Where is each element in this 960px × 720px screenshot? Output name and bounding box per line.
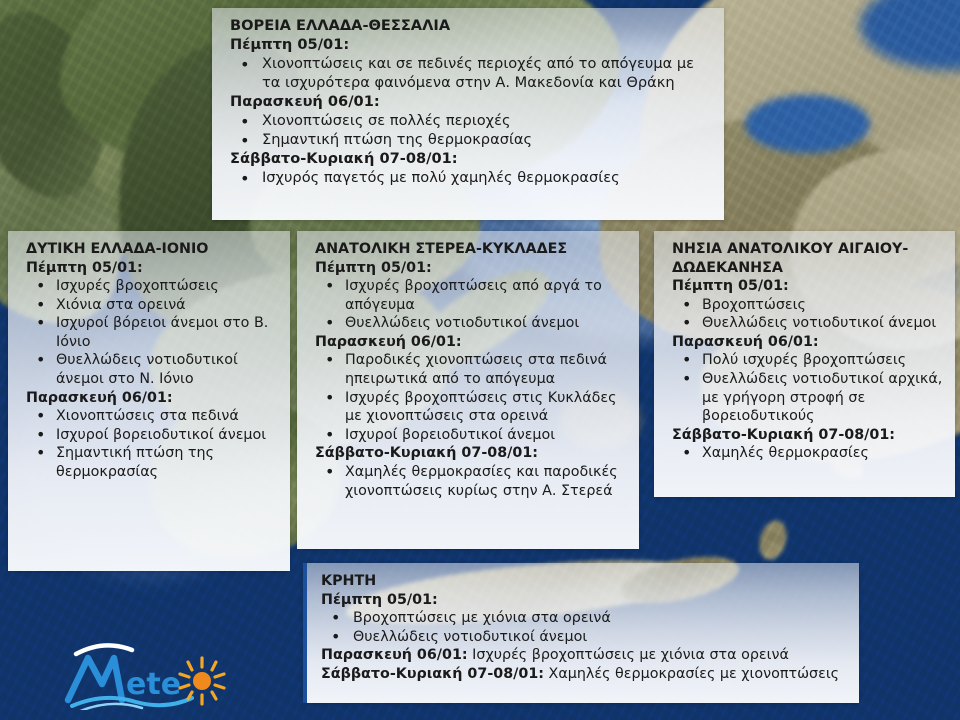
forecast-panel-western-greece-ionian: ΔΥΤΙΚΗ ΕΛΛΑΔΑ-ΙΟΝΙΟ Πέμπτη 05/01: Ισχυρέ… [8,231,290,571]
day-label-weekend: Σάββατο-Κυριακή 07-08/01: [672,426,945,445]
day-items-weekend: Χαμηλές θερμοκρασίες [672,444,945,463]
forecast-item: Ισχυρές βροχοπτώσεις από αργά το απόγευμ… [315,277,629,314]
day-items-friday: Παροδικές χιονοπτώσεις στα πεδινά ηπειρω… [315,351,629,444]
panel-title: ΚΡΗΤΗ [321,572,849,591]
day-items-thursday: Χιονοπτώσεις και σε πεδινές περιοχές από… [230,55,714,93]
infographic-canvas: ΒΟΡΕΙΑ ΕΛΛΑΔΑ-ΘΕΣΣΑΛΙΑ Πέμπτη 05/01: Χιο… [0,0,960,720]
panel-title: ΔΥΤΙΚΗ ΕΛΛΑΔΑ-ΙΟΝΙΟ [26,240,280,259]
forecast-item: Ισχυροί βόρειοι άνεμοι στο Β. Ιόνιο [26,314,280,351]
forecast-item: Θυελλώδεις νοτιοδυτικοί άνεμοι στο Ν. Ιό… [26,351,280,388]
day-label-thursday: Πέμπτη 05/01: [672,277,945,296]
forecast-line-weekend: Σάββατο-Κυριακή 07-08/01: Χαμηλές θερμοκ… [321,665,849,684]
svg-text:ete: ete [126,667,181,702]
forecast-item: Χαμηλές θερμοκρασίες με χιονοπτώσεις [544,666,839,682]
day-items-thursday: Ισχυρές βροχοπτώσεις από αργά το απόγευμ… [315,277,629,333]
forecast-panel-crete: ΚΡΗΤΗ Πέμπτη 05/01: Βροχοπτώσεις με χιόν… [303,563,859,703]
panel-title: ΝΗΣΙΑ ΑΝΑΤΟΛΙΚΟΥ ΑΙΓΑΙΟΥ-ΔΩΔΕΚΑΝΗΣΑ [672,240,945,277]
day-label-friday: Παρασκευή 06/01: [672,333,945,352]
forecast-item: Πολύ ισχυρές βροχοπτώσεις [672,351,945,370]
forecast-panel-northern-greece: ΒΟΡΕΙΑ ΕΛΛΑΔΑ-ΘΕΣΣΑΛΙΑ Πέμπτη 05/01: Χιο… [212,8,724,220]
day-label-weekend: Σάββατο-Κυριακή 07-08/01: [230,150,714,169]
forecast-item: Βροχοπτώσεις [672,296,945,315]
forecast-item: Ισχυρές βροχοπτώσεις στις Κυκλάδες με χι… [315,389,629,426]
day-items-thursday: Βροχοπτώσεις Θυελλώδεις νοτιοδυτικοί άνε… [672,296,945,333]
forecast-line-friday: Παρασκευή 06/01: Ισχυρές βροχοπτώσεις με… [321,646,849,665]
forecast-item: Χαμηλές θερμοκρασίες και παροδικές χιονο… [315,463,629,500]
day-items-thursday: Ισχυρές βροχοπτώσεις Χιόνια στα ορεινά Ι… [26,277,280,388]
day-items-weekend: Χαμηλές θερμοκρασίες και παροδικές χιονο… [315,463,629,500]
forecast-item: Χιονοπτώσεις σε πολλές περιοχές [230,112,714,131]
meteo-logo[interactable]: ete [58,636,234,710]
day-items-friday: Χιονοπτώσεις σε πολλές περιοχές Σημαντικ… [230,112,714,150]
day-items-friday: Χιονοπτώσεις στα πεδινά Ισχυροί βορειοδυ… [26,407,280,481]
forecast-item: Παροδικές χιονοπτώσεις στα πεδινά ηπειρω… [315,351,629,388]
forecast-item: Ισχυρός παγετός με πολύ χαμηλές θερμοκρα… [230,169,714,188]
forecast-item: Ισχυρές βροχοπτώσεις [26,277,280,296]
forecast-item: Χιονοπτώσεις στα πεδινά [26,407,280,426]
forecast-item: Θυελλώδεις νοτιοδυτικοί άνεμοι [672,314,945,333]
forecast-item: Χαμηλές θερμοκρασίες [672,444,945,463]
day-label-friday: Παρασκευή 06/01: [315,333,629,352]
forecast-item: Ισχυροί βορειοδυτικοί άνεμοι [315,426,629,445]
forecast-item: Θυελλώδεις νοτιοδυτικοί άνεμοι [315,314,629,333]
day-label-weekend: Σάββατο-Κυριακή 07-08/01: [321,666,544,682]
forecast-item: Βροχοπτώσεις με χιόνια στα ορεινά [321,609,849,628]
forecast-item: Σημαντική πτώση της θερμοκρασίας [230,131,714,150]
day-label-thursday: Πέμπτη 05/01: [321,591,849,610]
forecast-item: Χιόνια στα ορεινά [26,296,280,315]
day-label-weekend: Σάββατο-Κυριακή 07-08/01: [315,444,629,463]
forecast-panel-east-aegean-dodecanese: ΝΗΣΙΑ ΑΝΑΤΟΛΙΚΟΥ ΑΙΓΑΙΟΥ-ΔΩΔΕΚΑΝΗΣΑ Πέμπ… [654,231,955,497]
forecast-item: Ισχυρές βροχοπτώσεις με χιόνια στα ορειν… [468,647,789,663]
day-label-thursday: Πέμπτη 05/01: [315,259,629,278]
day-label-friday: Παρασκευή 06/01: [230,93,714,112]
forecast-panel-eastern-sterea-cyclades: ΑΝΑΤΟΛΙΚΗ ΣΤΕΡΕΑ-ΚΥΚΛΑΔΕΣ Πέμπτη 05/01: … [297,231,639,549]
forecast-item: Θυελλώδεις νοτιοδυτικοί αρχικά, με γρήγο… [672,370,945,426]
forecast-item: Σημαντική πτώση της θερμοκρασίας [26,444,280,481]
sun-icon [193,672,211,690]
day-label-friday: Παρασκευή 06/01: [26,389,280,408]
day-label-friday: Παρασκευή 06/01: [321,647,468,663]
day-items-thursday: Βροχοπτώσεις με χιόνια στα ορεινά Θυελλώ… [321,609,849,646]
day-items-friday: Πολύ ισχυρές βροχοπτώσεις Θυελλώδεις νοτ… [672,351,945,425]
day-label-thursday: Πέμπτη 05/01: [26,259,280,278]
forecast-item: Θυελλώδεις νοτιοδυτικοί άνεμοι [321,628,849,647]
panel-title: ΒΟΡΕΙΑ ΕΛΛΑΔΑ-ΘΕΣΣΑΛΙΑ [230,17,714,36]
forecast-item: Ισχυροί βορειοδυτικοί άνεμοι [26,426,280,445]
panel-title: ΑΝΑΤΟΛΙΚΗ ΣΤΕΡΕΑ-ΚΥΚΛΑΔΕΣ [315,240,629,259]
day-label-thursday: Πέμπτη 05/01: [230,36,714,55]
forecast-item: Χιονοπτώσεις και σε πεδινές περιοχές από… [230,55,714,93]
day-items-weekend: Ισχυρός παγετός με πολύ χαμηλές θερμοκρα… [230,169,714,188]
